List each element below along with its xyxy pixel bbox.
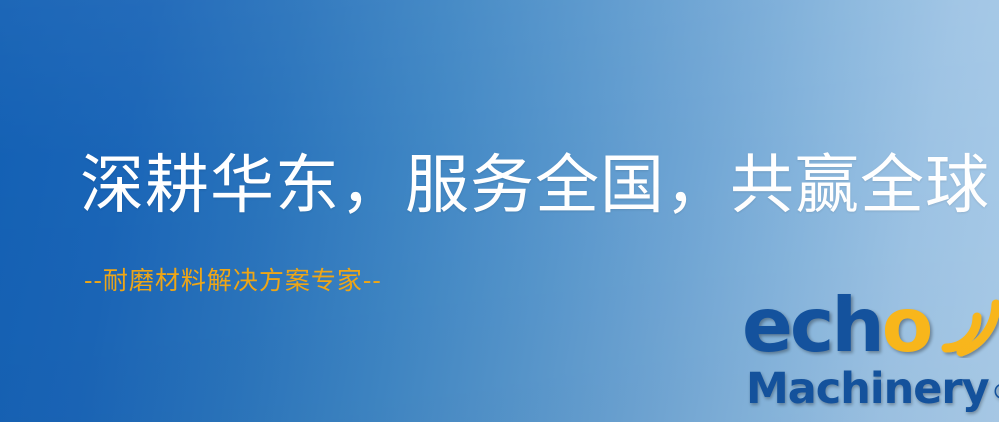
logo-text-ech: ech <box>742 281 882 369</box>
banner-subtitle: --耐磨材料解决方案专家-- <box>84 266 382 296</box>
logo-wordmark: echo <box>742 288 930 363</box>
logo-text-machinery: Machinery <box>746 364 989 414</box>
signal-waves-icon <box>934 292 999 358</box>
hero-banner: 深耕华东，服务全国，共赢全球 --耐磨材料解决方案专家-- echo Machi… <box>0 0 999 422</box>
banner-headline: 深耕华东，服务全国，共赢全球 <box>80 151 990 221</box>
registered-trademark-icon: ® <box>992 380 999 404</box>
logo-text-o: o <box>882 281 931 369</box>
company-logo[interactable]: echo Machinery® <box>742 292 999 422</box>
logo-subtext: Machinery® <box>746 366 999 415</box>
